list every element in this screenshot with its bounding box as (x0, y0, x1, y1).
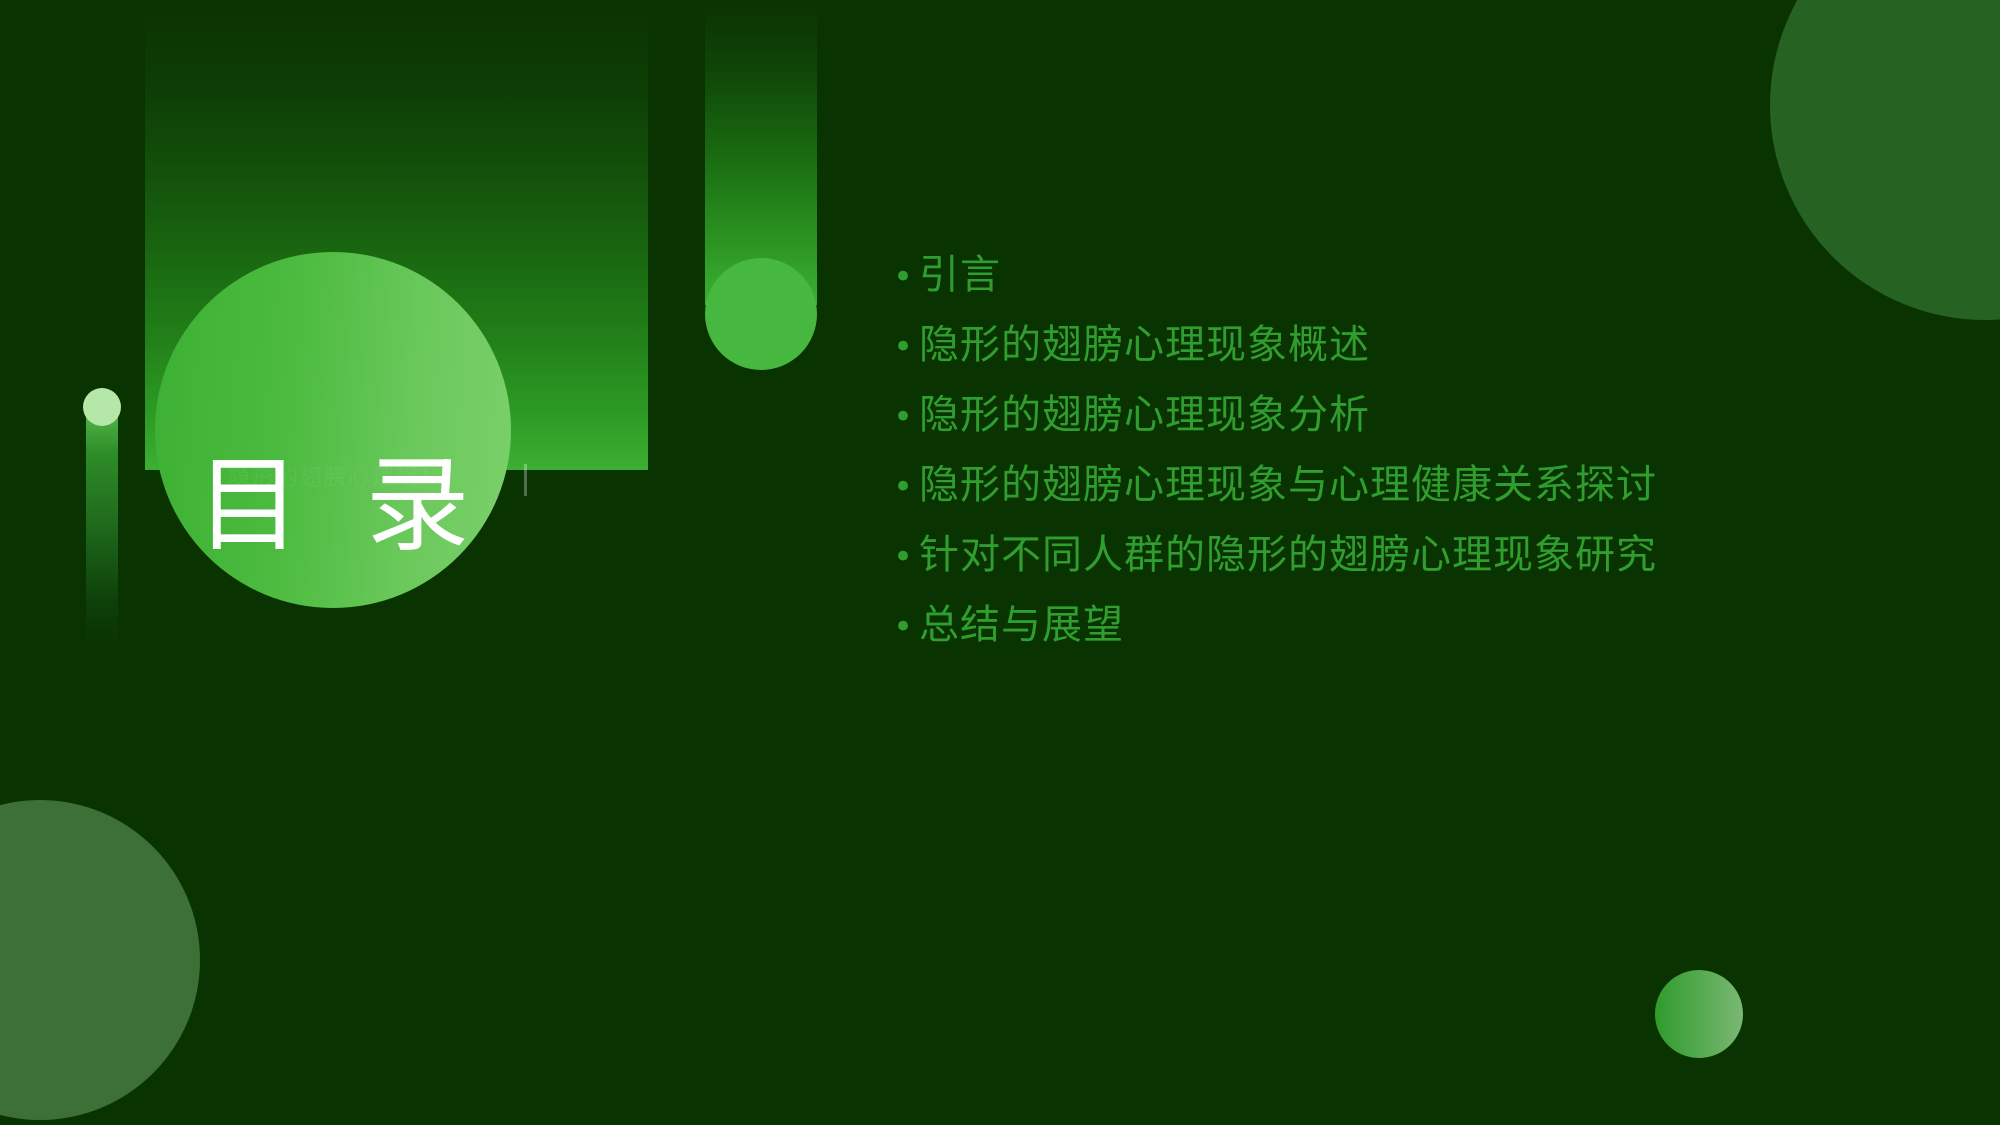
bullet-icon: • (893, 260, 919, 294)
decorative-circle-bottom-right (1655, 970, 1743, 1058)
toc-item-5[interactable]: • 针对不同人群的隐形的翅膀心理现象研究 (893, 535, 1913, 605)
toc-item-4[interactable]: • 隐形的翅膀心理现象与心理健康关系探讨 (893, 465, 1913, 535)
toc-item-label: 隐形的翅膀心理现象分析 (919, 395, 1913, 435)
toc-item-label: 隐形的翅膀心理现象与心理健康关系探讨 (919, 465, 1913, 505)
decorative-gradient-bar-thin (86, 398, 118, 646)
toc-item-label: 针对不同人群的隐形的翅膀心理现象研究 (919, 535, 1913, 575)
presentation-slide: 隐形的翅膀心理现象 目 录 • 引言 • 隐形的翅膀心理现象概述 • 隐形的翅膀… (0, 0, 2000, 1125)
bullet-icon: • (893, 540, 919, 574)
decorative-bar-middle-cap-circle (705, 258, 817, 370)
toc-item-label: 隐形的翅膀心理现象概述 (919, 325, 1913, 365)
bullet-icon: • (893, 610, 919, 644)
bullet-icon: • (893, 470, 919, 504)
toc-item-label: 总结与展望 (919, 605, 1913, 645)
toc-item-2[interactable]: • 隐形的翅膀心理现象概述 (893, 325, 1913, 395)
decorative-tick-mark (524, 464, 527, 496)
toc-item-3[interactable]: • 隐形的翅膀心理现象分析 (893, 395, 1913, 465)
table-of-contents: • 引言 • 隐形的翅膀心理现象概述 • 隐形的翅膀心理现象分析 • 隐形的翅膀… (893, 255, 1913, 675)
toc-item-1[interactable]: • 引言 (893, 255, 1913, 325)
page-title: 目 录 (155, 440, 511, 570)
decorative-bar-thin-cap-circle (83, 388, 121, 426)
decorative-circle-bottom-left (0, 800, 200, 1120)
bullet-icon: • (893, 400, 919, 434)
toc-item-label: 引言 (919, 255, 1913, 295)
bullet-icon: • (893, 330, 919, 364)
toc-item-6[interactable]: • 总结与展望 (893, 605, 1913, 675)
